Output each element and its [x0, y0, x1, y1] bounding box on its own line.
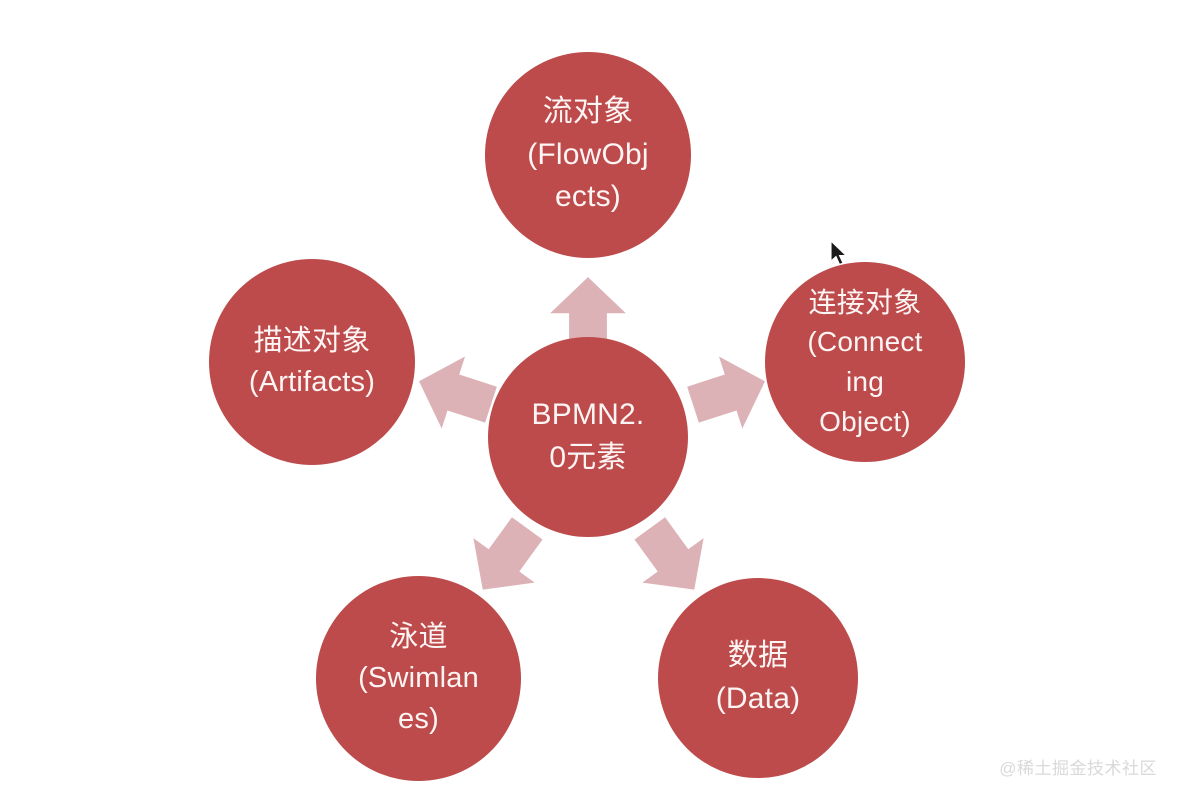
node-flow-objects-label: 流对象 (FlowObj ects) — [504, 91, 672, 219]
node-artifacts[interactable]: 描述对象 (Artifacts) — [209, 259, 415, 465]
node-swimlanes[interactable]: 泳道 (Swimlan es) — [316, 576, 521, 781]
watermark: @稀土掘金技术社区 — [999, 754, 1157, 779]
node-swimlanes-label: 泳道 (Swimlan es) — [335, 617, 503, 741]
node-data[interactable]: 数据 (Data) — [658, 578, 858, 778]
node-connecting-object-label: 连接对象 (Connect ing Object) — [785, 283, 945, 442]
node-data-label: 数据 (Data) — [678, 635, 838, 720]
node-connecting-object[interactable]: 连接对象 (Connect ing Object) — [765, 262, 965, 462]
diagram-canvas: 流对象 (FlowObj ects) 连接对象 (Connect ing Obj… — [0, 0, 1179, 797]
node-center-label: BPMN2. 0元素 — [513, 394, 663, 479]
node-artifacts-label: 描述对象 (Artifacts) — [217, 321, 407, 403]
node-flow-objects[interactable]: 流对象 (FlowObj ects) — [485, 52, 691, 258]
node-center-bpmn-elements[interactable]: BPMN2. 0元素 — [488, 337, 688, 537]
